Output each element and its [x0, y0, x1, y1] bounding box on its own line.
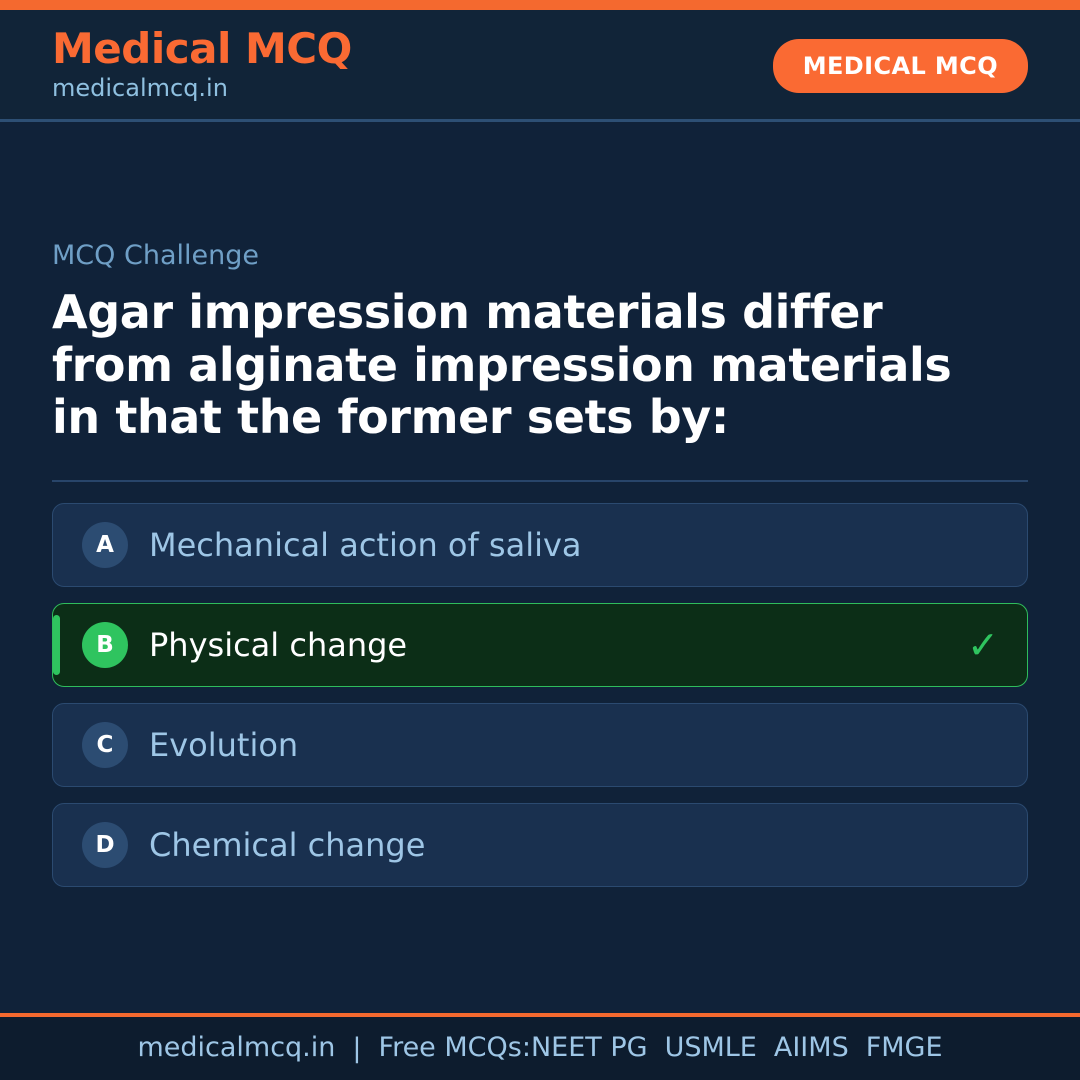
option-letter-badge: B [82, 622, 128, 668]
option-text: Mechanical action of saliva [149, 526, 582, 564]
footer-exam-neet-pg: NEET PG [531, 1032, 648, 1064]
page-footer: medicalmcq.in | Free MCQs: NEET PG USMLE… [0, 1017, 1080, 1080]
option-letter-badge: A [82, 522, 128, 568]
option-text: Chemical change [149, 826, 425, 864]
option-letter-badge: D [82, 822, 128, 868]
option-d[interactable]: D Chemical change ✓ [52, 803, 1028, 887]
main-content: MCQ Challenge Agar impression materials … [0, 122, 1080, 1013]
check-icon: ✓ [967, 626, 999, 664]
footer-exam-fmge: FMGE [866, 1032, 943, 1064]
option-text: Physical change [149, 626, 407, 664]
footer-prefix: Free MCQs: [379, 1032, 531, 1064]
option-b[interactable]: B Physical change ✓ [52, 603, 1028, 687]
brand-title: Medical MCQ [52, 27, 352, 71]
page-header: Medical MCQ medicalmcq.in MEDICAL MCQ [0, 10, 1080, 122]
footer-site: medicalmcq.in [137, 1032, 335, 1064]
top-accent-bar [0, 0, 1080, 10]
footer-exam-list: NEET PG USMLE AIIMS FMGE [531, 1032, 943, 1064]
options-list: A Mechanical action of saliva ✓ B Physic… [52, 503, 1028, 887]
footer-exam-aiims: AIIMS [774, 1032, 849, 1064]
option-a[interactable]: A Mechanical action of saliva ✓ [52, 503, 1028, 587]
footer-exam-usmle: USMLE [665, 1032, 757, 1064]
eyebrow-label: MCQ Challenge [52, 240, 1028, 272]
header-badge: MEDICAL MCQ [773, 39, 1028, 93]
question-text: Agar impression materials differ from al… [52, 286, 997, 443]
section-divider [52, 480, 1028, 482]
option-c[interactable]: C Evolution ✓ [52, 703, 1028, 787]
option-letter-badge: C [82, 722, 128, 768]
option-text: Evolution [149, 726, 298, 764]
brand-block: Medical MCQ medicalmcq.in [52, 27, 352, 104]
footer-separator: | [335, 1033, 378, 1064]
brand-subtitle: medicalmcq.in [52, 73, 352, 104]
